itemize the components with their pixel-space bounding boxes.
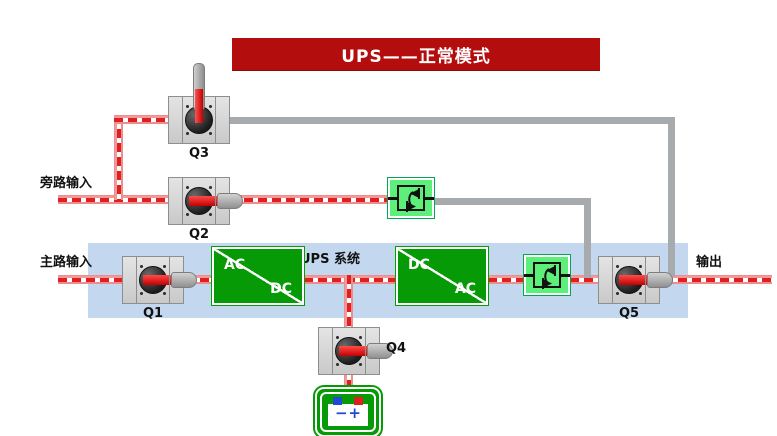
switch-q1-body [122,256,184,304]
screw-icon [209,132,212,135]
switch-q2-handle [189,196,219,206]
switch-q1-handle [143,275,173,285]
switch-q5-label: Q5 [598,306,660,321]
screw-icon [209,186,212,189]
bypass-static-switch[interactable] [388,178,434,218]
rectifier-block: AC DC [212,247,304,305]
switch-q4-body [318,327,380,375]
switch-q5-boss [647,272,673,288]
switch-q2-body [168,177,230,225]
battery-positive-sign: + [348,406,361,421]
switch-q2-boss [217,193,243,209]
wire-output [664,275,772,284]
switch-q1[interactable]: Q1 [122,256,184,304]
ups-enclosure-label: UPS 系统 [300,248,360,267]
switch-q2-label: Q2 [168,227,230,242]
screw-icon [186,132,189,135]
output-static-switch[interactable] [524,255,570,295]
screw-icon [639,265,642,268]
switch-q5-handle [619,275,649,285]
wire-main-input [58,275,124,284]
switch-q3[interactable]: Q3 [168,96,230,144]
switch-q1-boss [171,272,197,288]
screw-icon [616,265,619,268]
screw-icon [209,213,212,216]
screw-icon [616,292,619,295]
switch-q1-label: Q1 [122,306,184,321]
wire-bypass-sts-down-riser [584,198,591,278]
battery-block: − + [315,387,381,436]
wire-bypass-to-q3 [114,115,172,124]
screw-icon [186,213,189,216]
switch-q4-label: Q4 [380,341,406,356]
wire-bypass-riser [114,115,123,200]
switch-q5[interactable]: Q5 [598,256,660,304]
diagram-title-bar: UPS——正常模式 [232,38,600,70]
screw-icon [163,292,166,295]
inverter-block: DC AC [396,247,488,305]
rectifier-output-label: DC [270,281,292,297]
switch-q4-handle [339,346,369,356]
wire-inverter-to-output-sts [488,275,528,284]
switch-q3-handle-indicator [195,89,203,123]
wire-q2-to-bypass-sts [230,195,390,204]
switch-q3-label: Q3 [168,146,230,161]
screw-icon [140,265,143,268]
switch-q4[interactable]: Q4 [318,327,380,375]
screw-icon [209,105,212,108]
screw-icon [336,336,339,339]
inverter-input-label: DC [408,257,430,273]
screw-icon [359,363,362,366]
switch-q5-body [598,256,660,304]
inverter-output-label: AC [455,281,476,297]
thyristor-pair-icon [397,185,429,215]
label-output: 输出 [696,251,722,270]
screw-icon [639,292,642,295]
screw-icon [163,265,166,268]
wire-bypass-sts-output [434,198,591,205]
label-main-input: 主路输入 [40,251,92,270]
screw-icon [359,336,362,339]
ups-normal-mode-diagram: UPS——正常模式 UPS 系统 Q3 [0,0,777,436]
page-title: UPS——正常模式 [341,42,491,67]
switch-q2[interactable]: Q2 [168,177,230,225]
screw-icon [140,292,143,295]
switch-q3-body [168,96,230,144]
screw-icon [186,186,189,189]
output-sts-lead-left [524,274,533,277]
battery-negative-sign: − [335,406,348,421]
bypass-sts-lead-left [388,197,397,200]
screw-icon [186,105,189,108]
rectifier-input-label: AC [224,257,245,273]
wire-dc-to-battery [344,275,353,330]
wire-q3-output [230,117,675,124]
wire-q3-down-riser [668,117,675,277]
thyristor-pair-icon [533,262,565,292]
label-bypass-input: 旁路输入 [40,172,92,191]
screw-icon [336,363,339,366]
